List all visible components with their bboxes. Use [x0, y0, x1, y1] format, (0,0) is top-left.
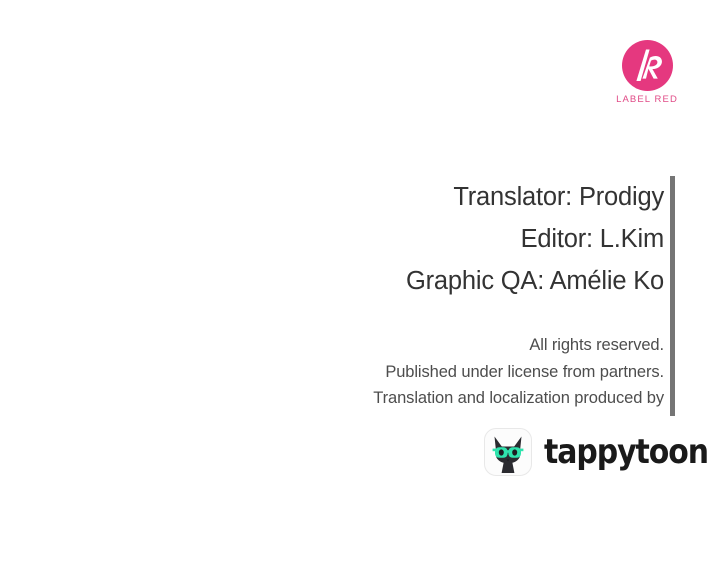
publisher-name: LABEL RED: [616, 94, 678, 105]
tappytoon-cat-glasses-icon: [484, 428, 532, 476]
label-red-monogram-icon: [622, 40, 673, 91]
rights-line-all-rights-reserved: All rights reserved.: [250, 332, 664, 359]
rights-line-translation-produced-by: Translation and localization produced by: [250, 385, 664, 412]
publisher-logo: LABEL RED: [596, 40, 698, 112]
credits-block: Translator: Prodigy Editor: L.Kim Graphi…: [250, 176, 664, 302]
rights-line-published-under-license: Published under license from partners.: [250, 359, 664, 386]
credit-line-graphic-qa: Graphic QA: Amélie Ko: [250, 260, 664, 302]
tappytoon-brand-lockup: tappytoon: [484, 428, 720, 476]
tappytoon-wordmark: tappytoon: [544, 435, 708, 469]
credit-line-editor: Editor: L.Kim: [250, 218, 664, 260]
rights-block: All rights reserved. Published under lic…: [250, 332, 664, 412]
vertical-divider: [670, 176, 675, 416]
credits-page: LABEL RED Translator: Prodigy Editor: L.…: [0, 0, 720, 579]
credit-line-translator: Translator: Prodigy: [250, 176, 664, 218]
